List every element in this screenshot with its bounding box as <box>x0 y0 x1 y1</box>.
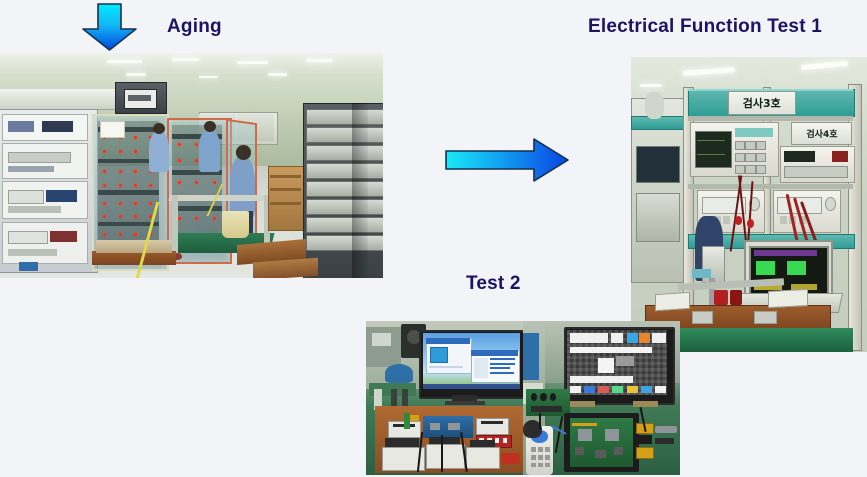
caption-test-2: Test 2 <box>466 273 521 295</box>
down-arrow-icon <box>78 2 141 52</box>
caption-electrical-function-test-1: Electrical Function Test 1 <box>588 16 822 38</box>
inspection-station-4-sign: 검사4호 <box>791 122 852 145</box>
photo-test-2-bench <box>366 321 680 475</box>
photo-electrical-function-test-station: 검사3호 검사4호 <box>631 57 867 352</box>
inspection-station-3-sign: 검사3호 <box>728 91 796 115</box>
caption-aging: Aging <box>167 16 222 38</box>
process-flow-stage: Aging Electrical Function Test 1 Test 2 <box>0 0 867 477</box>
photo-aging-room <box>0 53 383 278</box>
right-arrow-icon <box>444 137 570 183</box>
